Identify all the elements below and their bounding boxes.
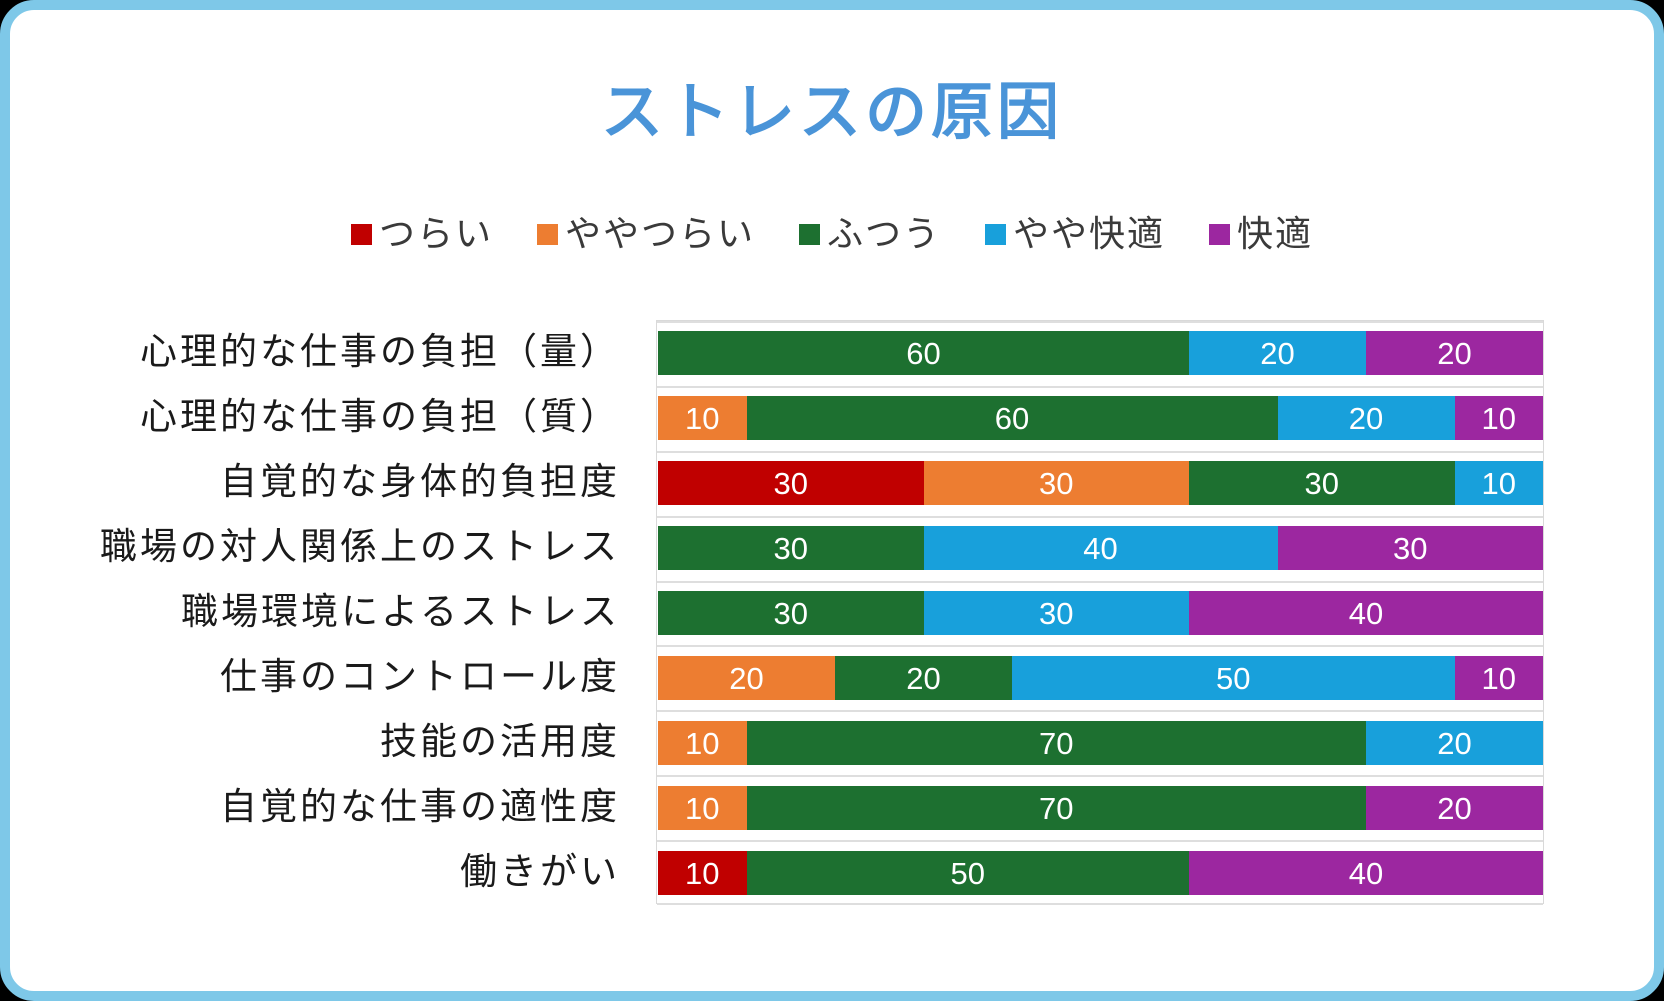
bar-segment[interactable]: 20 (1366, 786, 1543, 830)
legend-item[interactable]: やや快適 (985, 216, 1165, 252)
bar-segment-value: 20 (729, 663, 763, 694)
bar-segment-value: 10 (1482, 403, 1516, 434)
bar-segment[interactable]: 50 (747, 851, 1190, 895)
chart-body: 心理的な仕事の負担（量）心理的な仕事の負担（質）自覚的な身体的負担度職場の対人関… (20, 312, 1664, 912)
bar-segment[interactable]: 10 (1455, 396, 1544, 440)
bar-segment[interactable]: 60 (747, 396, 1278, 440)
gridline (657, 775, 1543, 777)
bar-segment-value: 40 (1349, 598, 1383, 629)
bar-row[interactable]: 20205010 (658, 656, 1543, 700)
gridline (657, 645, 1543, 647)
gridline (657, 903, 1543, 905)
bar-segment-value: 30 (774, 468, 808, 499)
gridline (657, 581, 1543, 583)
bar-segment[interactable]: 30 (924, 461, 1190, 505)
bar-segment[interactable]: 20 (835, 656, 1012, 700)
bar-segment[interactable]: 10 (658, 396, 747, 440)
legend-swatch-icon (537, 224, 558, 245)
bar-segment-value: 70 (1039, 793, 1073, 824)
legend-item-label: つらい (379, 216, 493, 252)
bar-segment-value: 40 (1349, 858, 1383, 889)
gridline (657, 386, 1543, 388)
legend-item[interactable]: ふつう (799, 216, 941, 252)
legend-item[interactable]: つらい (351, 216, 493, 252)
bar-row[interactable]: 303040 (658, 591, 1543, 635)
bar-row[interactable]: 105040 (658, 851, 1543, 895)
bar-segment-value: 10 (685, 858, 719, 889)
bar-segment-value: 10 (685, 728, 719, 759)
category-label: 職場の対人関係上のストレス (100, 514, 620, 580)
bar-segment-value: 40 (1083, 533, 1117, 564)
bar-segment-value: 20 (1437, 338, 1471, 369)
legend-item[interactable]: 快適 (1209, 216, 1313, 252)
bar-segment[interactable]: 20 (1366, 721, 1543, 765)
slide-card: ストレスの原因 つらいややつらいふつうやや快適快適 心理的な仕事の負担（量）心理… (20, 20, 1644, 981)
bar-segment[interactable]: 10 (1455, 656, 1544, 700)
bar-segment[interactable]: 30 (658, 461, 924, 505)
category-label: 働きがい (460, 839, 620, 905)
gridline (657, 451, 1543, 453)
bar-segment[interactable]: 50 (1012, 656, 1455, 700)
bar-segment[interactable]: 10 (1455, 461, 1544, 505)
bar-segment[interactable]: 40 (924, 526, 1278, 570)
bar-row[interactable]: 30303010 (658, 461, 1543, 505)
bar-row[interactable]: 304030 (658, 526, 1543, 570)
bar-segment-value: 10 (685, 403, 719, 434)
bar-segment-value: 10 (685, 793, 719, 824)
bar-segment[interactable]: 10 (658, 721, 747, 765)
category-label: 技能の活用度 (380, 709, 620, 775)
legend-item-label: ややつらい (565, 216, 755, 252)
bar-segment-value: 20 (1349, 403, 1383, 434)
bar-segment-value: 30 (1305, 468, 1339, 499)
bar-segment-value: 30 (1393, 533, 1427, 564)
bar-segment-value: 30 (1039, 468, 1073, 499)
bar-segment[interactable]: 40 (1189, 851, 1543, 895)
bar-row[interactable]: 107020 (658, 721, 1543, 765)
bar-row[interactable]: 602020 (658, 331, 1543, 375)
slide-frame: ストレスの原因 つらいややつらいふつうやや快適快適 心理的な仕事の負担（量）心理… (0, 0, 1664, 1001)
category-label: 心理的な仕事の負担（量） (140, 319, 620, 385)
bar-segment-value: 60 (906, 338, 940, 369)
bar-segment[interactable]: 30 (658, 591, 924, 635)
category-label: 自覚的な身体的負担度 (220, 449, 620, 515)
gridline (657, 840, 1543, 842)
category-label: 職場環境によるストレス (181, 579, 620, 645)
page-title: ストレスの原因 (20, 82, 1644, 144)
bar-segment-value: 70 (1039, 728, 1073, 759)
bar-segment[interactable]: 30 (658, 526, 924, 570)
legend-item-label: ふつう (827, 216, 941, 252)
bar-segment-value: 10 (1482, 663, 1516, 694)
legend-swatch-icon (1209, 224, 1230, 245)
bar-segment-value: 50 (1216, 663, 1250, 694)
gridline (657, 516, 1543, 518)
bar-segment[interactable]: 20 (1189, 331, 1366, 375)
bar-segment-value: 30 (1039, 598, 1073, 629)
bar-segment[interactable]: 20 (1366, 331, 1543, 375)
bar-segment-value: 20 (906, 663, 940, 694)
bar-segment[interactable]: 10 (658, 851, 747, 895)
bar-row[interactable]: 107020 (658, 786, 1543, 830)
bar-segment[interactable]: 70 (747, 721, 1367, 765)
chart-legend: つらいややつらいふつうやや快適快適 (20, 216, 1644, 252)
category-label: 自覚的な仕事の適性度 (220, 774, 620, 840)
gridline (657, 710, 1543, 712)
bar-segment[interactable]: 20 (658, 656, 835, 700)
category-axis: 心理的な仕事の負担（量）心理的な仕事の負担（質）自覚的な身体的負担度職場の対人関… (20, 312, 642, 912)
bar-segment-value: 30 (774, 598, 808, 629)
bar-segment-value: 30 (774, 533, 808, 564)
bar-segment[interactable]: 60 (658, 331, 1189, 375)
bar-row[interactable]: 10602010 (658, 396, 1543, 440)
legend-item[interactable]: ややつらい (537, 216, 755, 252)
bar-segment-value: 20 (1260, 338, 1294, 369)
bar-segment[interactable]: 10 (658, 786, 747, 830)
bar-segment-value: 60 (995, 403, 1029, 434)
category-label: 心理的な仕事の負担（質） (140, 384, 620, 450)
category-label: 仕事のコントロール度 (220, 644, 620, 710)
legend-item-label: やや快適 (1013, 216, 1165, 252)
bar-segment-value: 20 (1437, 793, 1471, 824)
bar-segment-value: 10 (1482, 468, 1516, 499)
legend-swatch-icon (985, 224, 1006, 245)
bar-segment[interactable]: 30 (1189, 461, 1455, 505)
bar-segment-value: 50 (951, 858, 985, 889)
bar-segment[interactable]: 70 (747, 786, 1367, 830)
gridline (657, 321, 1543, 323)
bar-segment-value: 20 (1437, 728, 1471, 759)
bar-segment[interactable]: 20 (1278, 396, 1455, 440)
legend-swatch-icon (351, 224, 372, 245)
bar-segment[interactable]: 40 (1189, 591, 1543, 635)
bar-segment[interactable]: 30 (1278, 526, 1544, 570)
legend-swatch-icon (799, 224, 820, 245)
bar-segment[interactable]: 30 (924, 591, 1190, 635)
legend-item-label: 快適 (1237, 216, 1313, 252)
plot-area: 6020201060201030303010304030303040202050… (656, 320, 1544, 904)
